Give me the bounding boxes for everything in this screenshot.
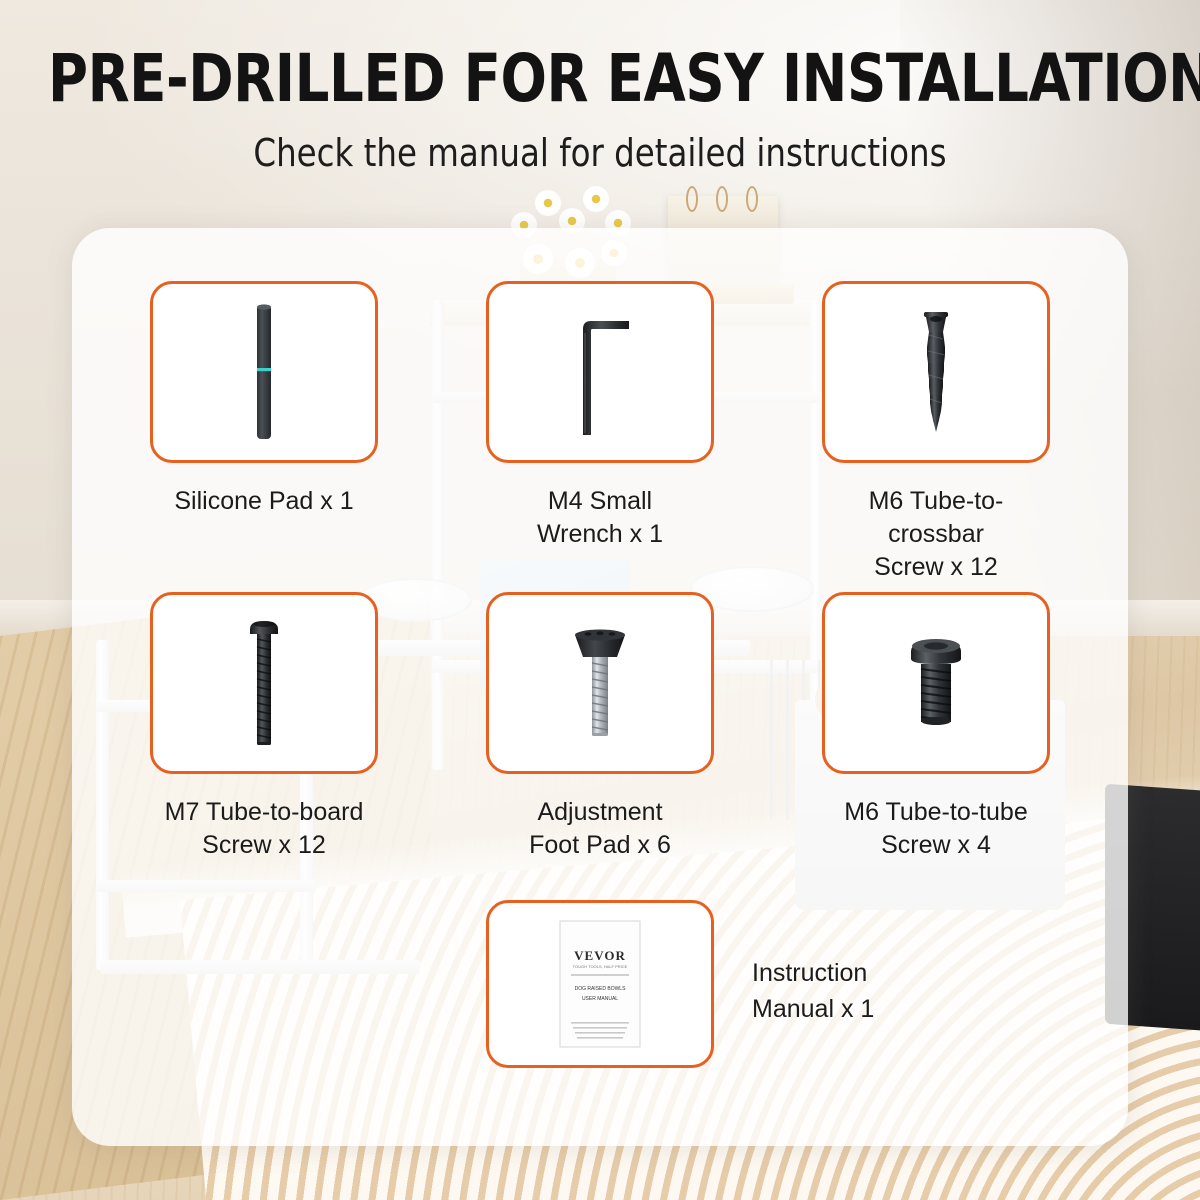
- part-image-box-m6-tube-to-tube-screw: [822, 592, 1050, 774]
- pan-head-screw-icon: [244, 617, 284, 749]
- manual-booklet-icon: VEVOR TOUGH TOOLS, HALF PRICE DOG RAISED…: [557, 918, 643, 1050]
- part-image-box-m6-tube-to-crossbar-screw: [822, 281, 1050, 463]
- part-cell-m4-small-wrench: M4 Small Wrench x 1: [486, 281, 714, 551]
- svg-text:TOUGH TOOLS, HALF PRICE: TOUGH TOOLS, HALF PRICE: [573, 964, 628, 969]
- svg-text:VEVOR: VEVOR: [574, 948, 626, 963]
- hex-wrench-icon: [565, 307, 635, 437]
- part-caption-m7-tube-to-board-screw: M7 Tube-to-board Screw x 12: [150, 796, 378, 862]
- part-caption-m6-tube-to-tube-screw: M6 Tube-to-tube Screw x 4: [822, 796, 1050, 862]
- part-caption-m6-tube-to-crossbar-screw: M6 Tube-to-crossbar Screw x 12: [822, 485, 1050, 584]
- svg-text:USER MANUAL: USER MANUAL: [582, 996, 618, 1002]
- part-cell-m6-tube-to-tube-screw: M6 Tube-to-tube Screw x 4: [822, 592, 1050, 862]
- infographic-canvas: PRE-DRILLED FOR EASY INSTALLATION Check …: [0, 0, 1200, 1200]
- part-cell-m7-tube-to-board-screw: M7 Tube-to-board Screw x 12: [150, 592, 378, 862]
- part-image-box-silicone-pad: [150, 281, 378, 463]
- svg-text:DOG RAISED BOWLS: DOG RAISED BOWLS: [575, 986, 627, 992]
- page-subtitle: Check the manual for detailed instructio…: [30, 131, 1170, 175]
- part-cell-adjustment-foot-pad: Adjustment Foot Pad x 6: [486, 592, 714, 862]
- part-caption-silicone-pad: Silicone Pad x 1: [150, 485, 378, 518]
- part-caption-adjustment-foot-pad: Adjustment Foot Pad x 6: [486, 796, 714, 862]
- part-caption-instruction-manual: Instruction Manual x 1: [752, 955, 1012, 1027]
- foot-pad-icon: [557, 623, 643, 743]
- silicone-pad-icon: [247, 302, 281, 442]
- part-image-box-instruction-manual: VEVOR TOUGH TOOLS, HALF PRICE DOG RAISED…: [486, 900, 714, 1068]
- part-cell-silicone-pad: Silicone Pad x 1: [150, 281, 378, 518]
- wood-screw-icon: [913, 306, 959, 438]
- part-image-box-m7-tube-to-board-screw: [150, 592, 378, 774]
- part-image-box-adjustment-foot-pad: [486, 592, 714, 774]
- page-title: PRE-DRILLED FOR EASY INSTALLATION: [48, 40, 1152, 117]
- flat-head-bolt-icon: [893, 633, 979, 733]
- part-cell-m6-tube-to-crossbar-screw: M6 Tube-to-crossbar Screw x 12: [822, 281, 1050, 584]
- part-image-box-m4-small-wrench: [486, 281, 714, 463]
- part-caption-m4-small-wrench: M4 Small Wrench x 1: [486, 485, 714, 551]
- part-cell-instruction-manual: VEVOR TOUGH TOOLS, HALF PRICE DOG RAISED…: [486, 900, 714, 1068]
